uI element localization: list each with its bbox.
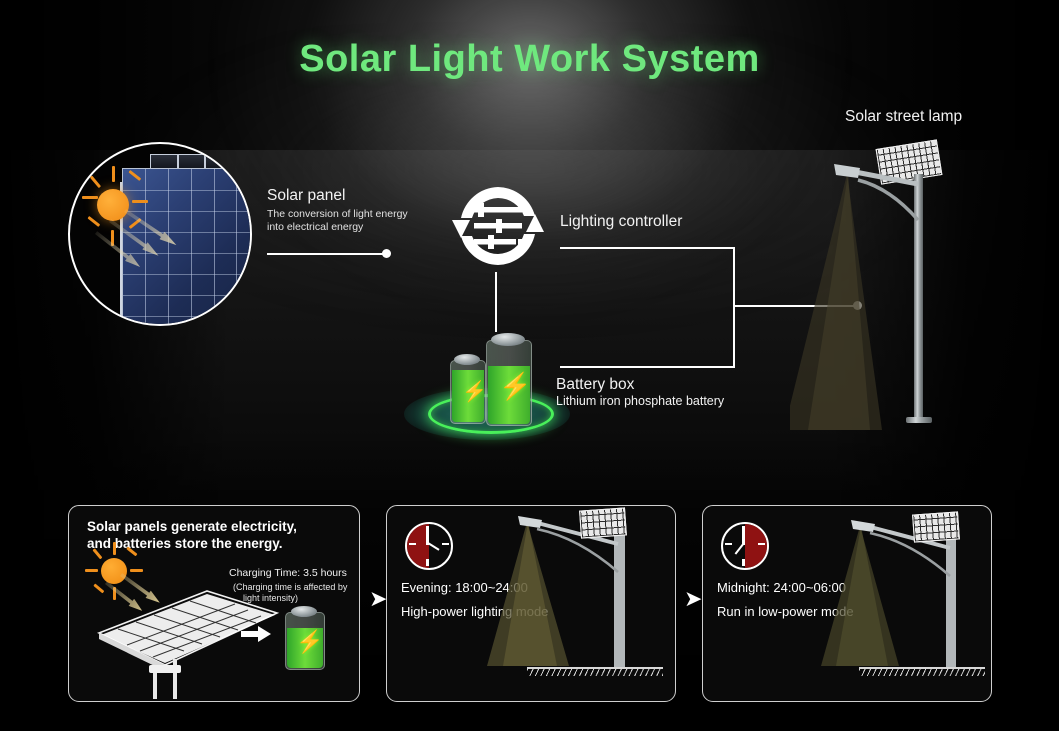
card-charging[interactable]: Solar panels generate electricity, and b… <box>68 505 360 702</box>
infographic-canvas: Solar Light Work System Solar pan <box>0 0 1059 731</box>
battery-box-sublabel: Lithium iron phosphate battery <box>556 394 724 408</box>
ground-hatching <box>527 669 663 676</box>
solar-panel-connector-dot <box>382 249 391 258</box>
solar-panel-sublabel-line2: into electrical energy <box>267 221 363 234</box>
battery-small-cap <box>454 354 480 365</box>
street-lamp-icon <box>790 140 990 430</box>
solar-panel-label: Solar panel <box>267 187 345 205</box>
lamp-solar-panel <box>579 507 627 538</box>
green-battery-icon: ⚡ <box>285 606 323 668</box>
battery-pair-icon: ⚡ ⚡ <box>404 330 574 440</box>
controller-line-down-to-battery <box>495 272 497 332</box>
right-arrow-icon <box>241 626 271 647</box>
battery-small: ⚡ <box>450 360 486 424</box>
battery-large-cap <box>491 333 525 346</box>
battery-line-horizontal <box>560 366 735 368</box>
battery-box-label: Battery box <box>556 376 634 394</box>
solar-panel-sublabel-line1: The conversion of light energy <box>267 208 408 221</box>
tilted-solar-panel-icon <box>69 506 359 701</box>
lamp-solar-panel <box>912 511 960 542</box>
step-arrow-2: ➤ <box>684 588 702 610</box>
ground-hatching <box>859 669 985 676</box>
page-title: Solar Light Work System <box>0 38 1059 81</box>
bracket-vertical-line <box>733 247 735 367</box>
solar-panel-circle-icon <box>68 142 252 326</box>
sun-icon <box>97 189 129 221</box>
solar-street-lamp-label: Solar street lamp <box>845 108 962 126</box>
card-midnight[interactable]: Midnight: 24:00~06:00 Run in low-power m… <box>702 505 992 702</box>
lighting-controller-label: Lighting controller <box>560 213 682 231</box>
solar-panel-connector-line <box>267 253 385 255</box>
controller-line-horizontal <box>560 247 733 249</box>
battery-large: ⚡ <box>486 340 532 426</box>
controller-sliders-loop-icon <box>452 180 544 272</box>
panel-surface <box>122 168 252 326</box>
card-evening[interactable]: Evening: 18:00~24:00 High-power lighting… <box>386 505 676 702</box>
step-arrow-1: ➤ <box>369 588 387 610</box>
